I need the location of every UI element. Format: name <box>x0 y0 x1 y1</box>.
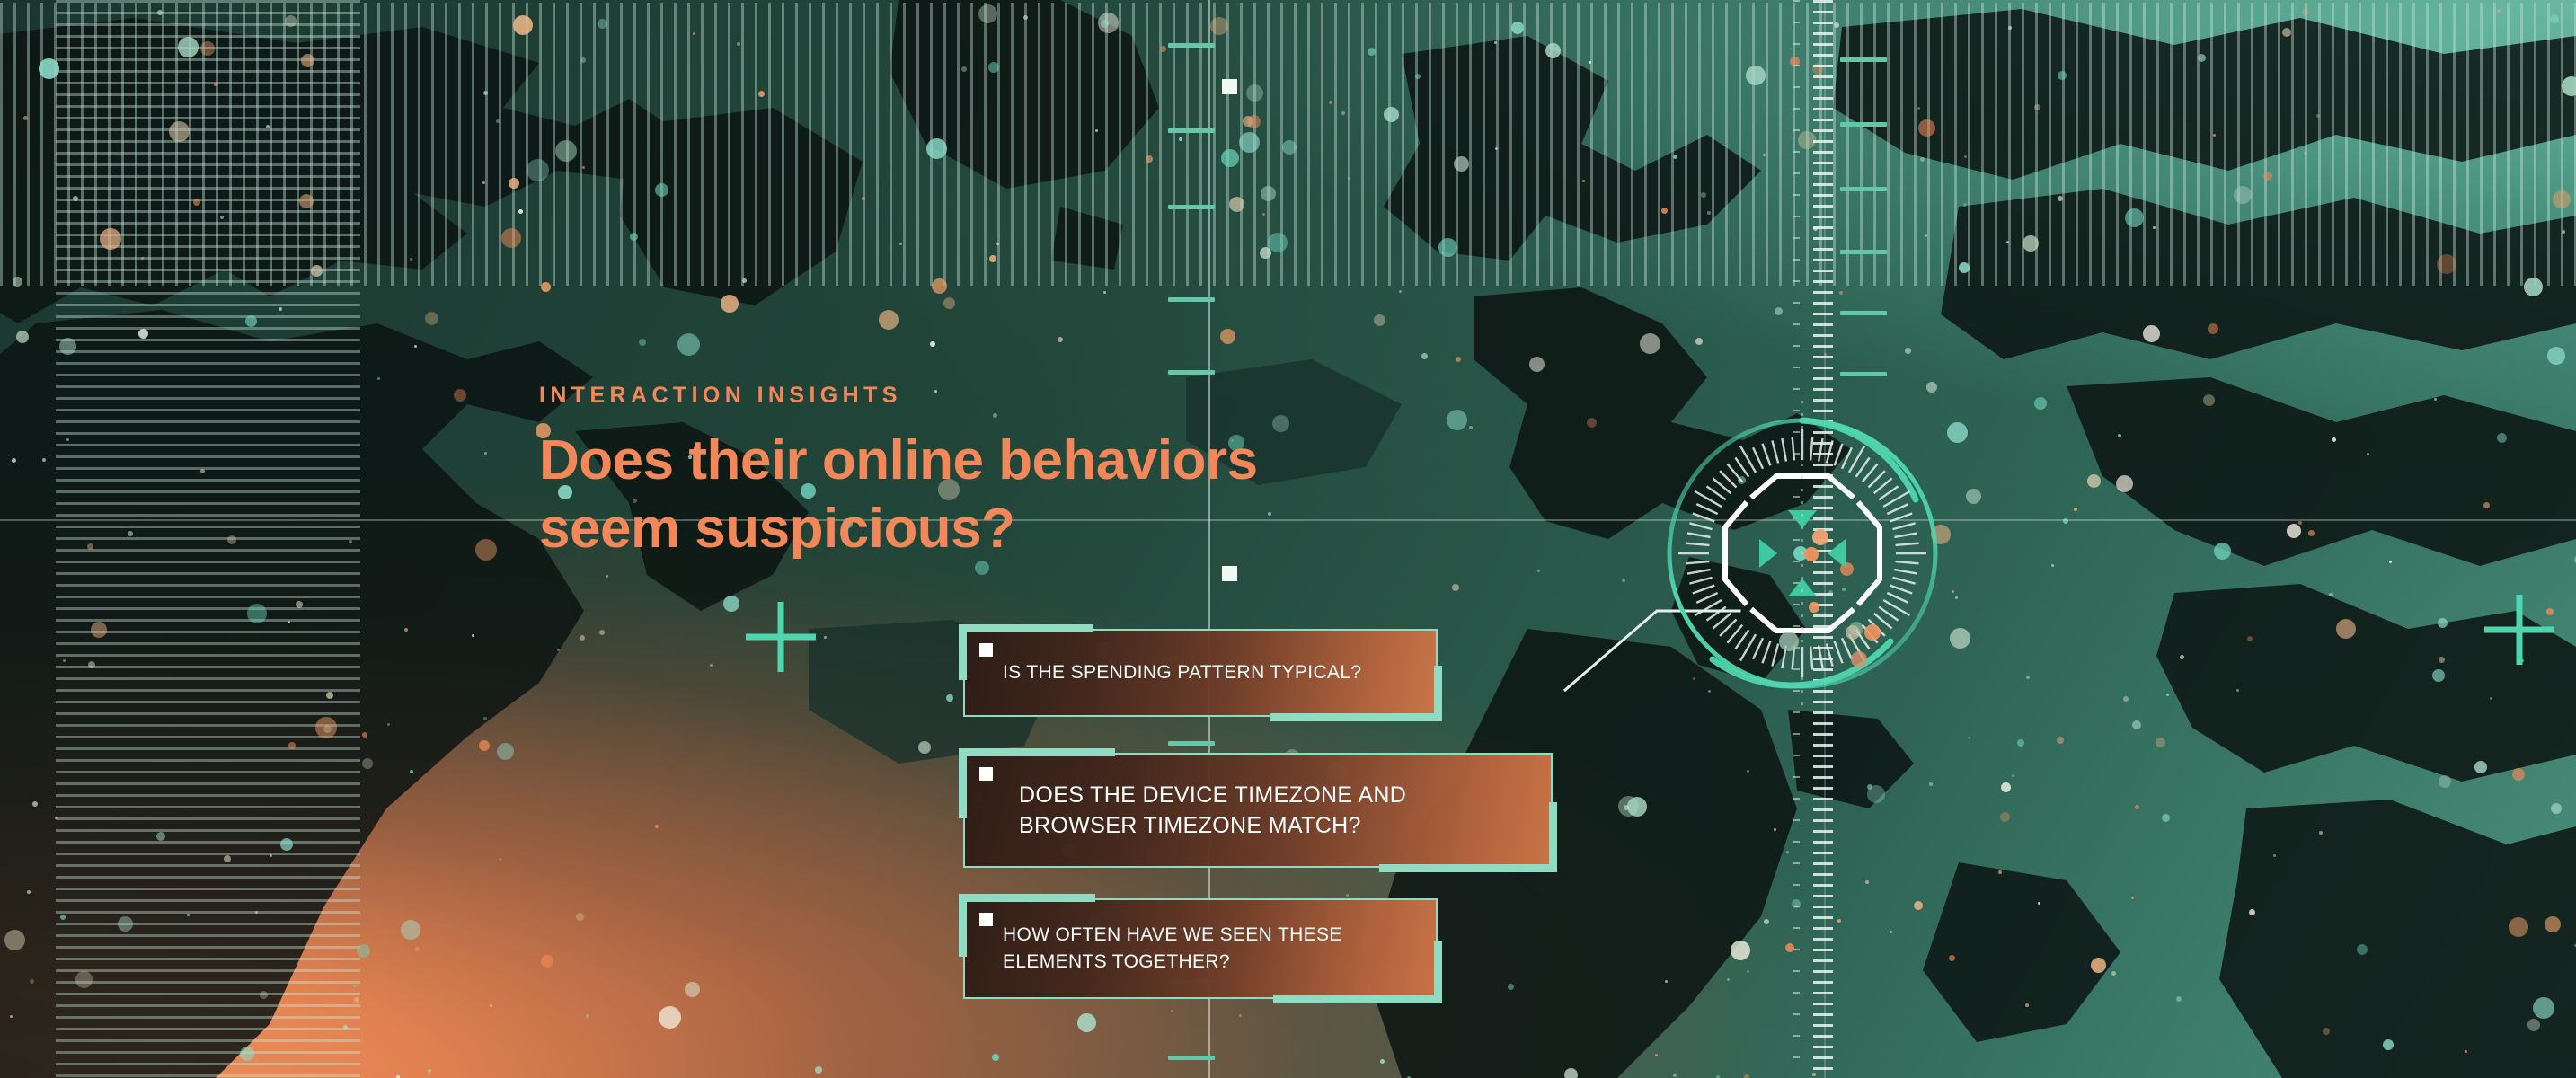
ruler-dash <box>1840 57 1887 62</box>
page-title: Does their online behaviors seem suspici… <box>539 427 1348 562</box>
card-accent-top <box>960 748 1115 756</box>
ruler-dash <box>1840 187 1887 191</box>
question-card-1[interactable]: IS THE SPENDING PATTERN TYPICAL? <box>963 629 1438 717</box>
card-accent-right <box>1434 666 1442 721</box>
eyebrow-label: INTERACTION INSIGHTS <box>539 384 1348 407</box>
ruler-dash <box>1168 205 1215 209</box>
question-card-2[interactable]: DOES THE DEVICE TIMEZONE AND BROWSER TIM… <box>963 753 1553 868</box>
headline-block: INTERACTION INSIGHTS Does their online b… <box>539 384 1348 562</box>
card-1-text: IS THE SPENDING PATTERN TYPICAL? <box>963 659 1385 686</box>
ruler-dash <box>1840 372 1887 376</box>
hud-square-marker <box>1222 566 1237 581</box>
ruler-dash <box>1840 311 1887 315</box>
card-3-text: HOW OFTEN HAVE WE SEEN THESE ELEMENTS TO… <box>963 922 1438 976</box>
square-bullet-icon <box>979 643 993 657</box>
ruler-dash <box>1840 250 1887 254</box>
ruler-dash <box>1168 370 1215 375</box>
card-accent-bottom <box>1379 864 1555 872</box>
card-accent-bottom <box>1273 995 1440 1003</box>
hud-square-marker <box>1222 79 1237 94</box>
card-2-text: DOES THE DEVICE TIMEZONE AND BROWSER TIM… <box>963 780 1553 842</box>
card-accent-bottom <box>1270 713 1440 721</box>
ruler-dash <box>1168 1056 1215 1060</box>
ruler-dash <box>1840 122 1887 127</box>
card-accent-top <box>960 894 1095 902</box>
crosshair-marker-right <box>2484 595 2554 665</box>
ruler-dash <box>1168 297 1215 302</box>
ruler-dash <box>1168 741 1215 746</box>
card-accent-top <box>960 624 1093 632</box>
crosshair-marker-left <box>746 602 816 672</box>
question-card-3[interactable]: HOW OFTEN HAVE WE SEEN THESE ELEMENTS TO… <box>963 898 1438 999</box>
ruler-dash <box>1168 128 1215 133</box>
ruler-dash <box>1168 43 1215 48</box>
slide-canvas: INTERACTION INSIGHTS Does their online b… <box>0 0 2576 1078</box>
targeting-reticle <box>1650 401 1955 706</box>
